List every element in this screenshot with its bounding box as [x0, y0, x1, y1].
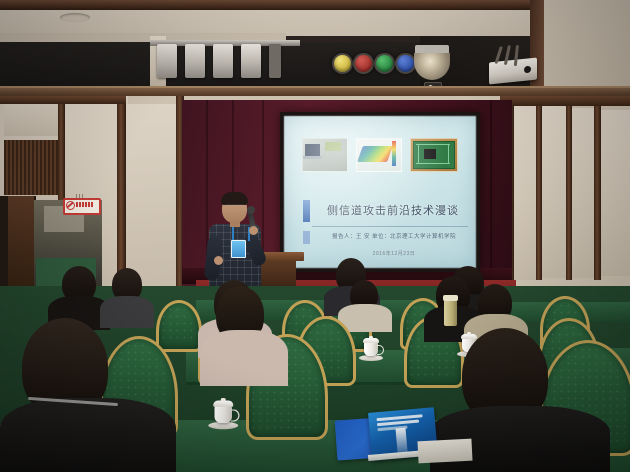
wall-trim-vertical — [594, 104, 601, 280]
ceiling-lamp-yellow-icon — [332, 53, 353, 74]
wall-trim-horizontal — [500, 96, 630, 106]
right-wall-panel — [542, 106, 568, 278]
audience-shoulders — [200, 330, 288, 386]
ceiling-lamp-red-icon — [353, 53, 374, 74]
wall-panel-small — [4, 104, 58, 136]
track-light-icon — [157, 44, 177, 78]
slide-instrument-icon — [325, 142, 341, 151]
track-light-icon — [185, 44, 205, 78]
slide-laptop-base — [303, 156, 322, 159]
right-wall-panel — [572, 108, 596, 278]
wall-panel-main — [126, 104, 182, 294]
handout-paper[interactable] — [417, 439, 472, 464]
track-light-icon — [241, 44, 261, 78]
presenter-hand-right — [249, 226, 258, 235]
wall-slat-panel — [4, 140, 58, 195]
ceiling-beam-highlight — [0, 86, 630, 88]
ceiling-corner-panel — [540, 0, 630, 96]
glasses-icon — [225, 204, 244, 210]
conference-room-photo: 侧信道攻击前沿技术漫谈 报告人：王 安 单位：北京理工大学计算机学院 2016年… — [0, 0, 630, 472]
slide-divider — [312, 226, 468, 227]
audience-shoulders-foreground — [0, 398, 176, 472]
ceiling-lamp-green-icon — [374, 53, 395, 74]
slide-heatmap-surface — [357, 146, 393, 162]
no-smoking-label — [76, 202, 94, 207]
slide-title: 侧信道攻击前沿技术漫谈 — [318, 202, 468, 218]
track-light-icon — [213, 44, 233, 78]
microphone-head-icon — [247, 206, 255, 214]
ceiling-vent-icon — [60, 13, 90, 22]
tea-thermos[interactable] — [444, 300, 457, 326]
conference-badge — [231, 240, 246, 258]
teacup[interactable] — [212, 398, 245, 438]
slide-date: 2016年12月23日 — [316, 250, 472, 257]
slide-subtitle: 报告人：王 安 单位：北京理工大学计算机学院 — [316, 232, 472, 240]
presenter-hand-left — [214, 256, 223, 265]
wall-trim-horizontal — [0, 96, 126, 104]
audience-shoulders — [100, 296, 154, 328]
right-wall-panel — [601, 110, 630, 276]
track-light-end-icon — [269, 44, 281, 78]
slide-accent-bar — [303, 200, 310, 222]
thermos-lid — [443, 295, 458, 301]
ceiling-lamp-blue-icon — [395, 53, 416, 74]
slide-laptop-icon — [305, 144, 320, 156]
ceiling-corner-trim — [530, 0, 544, 96]
door-panel[interactable] — [8, 196, 34, 296]
right-wall-panel — [512, 104, 538, 280]
lanyard-strap — [232, 227, 250, 241]
teacup[interactable] — [362, 336, 384, 362]
slide-accent-bar-secondary — [303, 231, 310, 244]
slide-colorbar — [392, 141, 396, 166]
slide-pcb-chip-icon — [424, 149, 436, 159]
wall-trim-vertical — [117, 96, 126, 296]
